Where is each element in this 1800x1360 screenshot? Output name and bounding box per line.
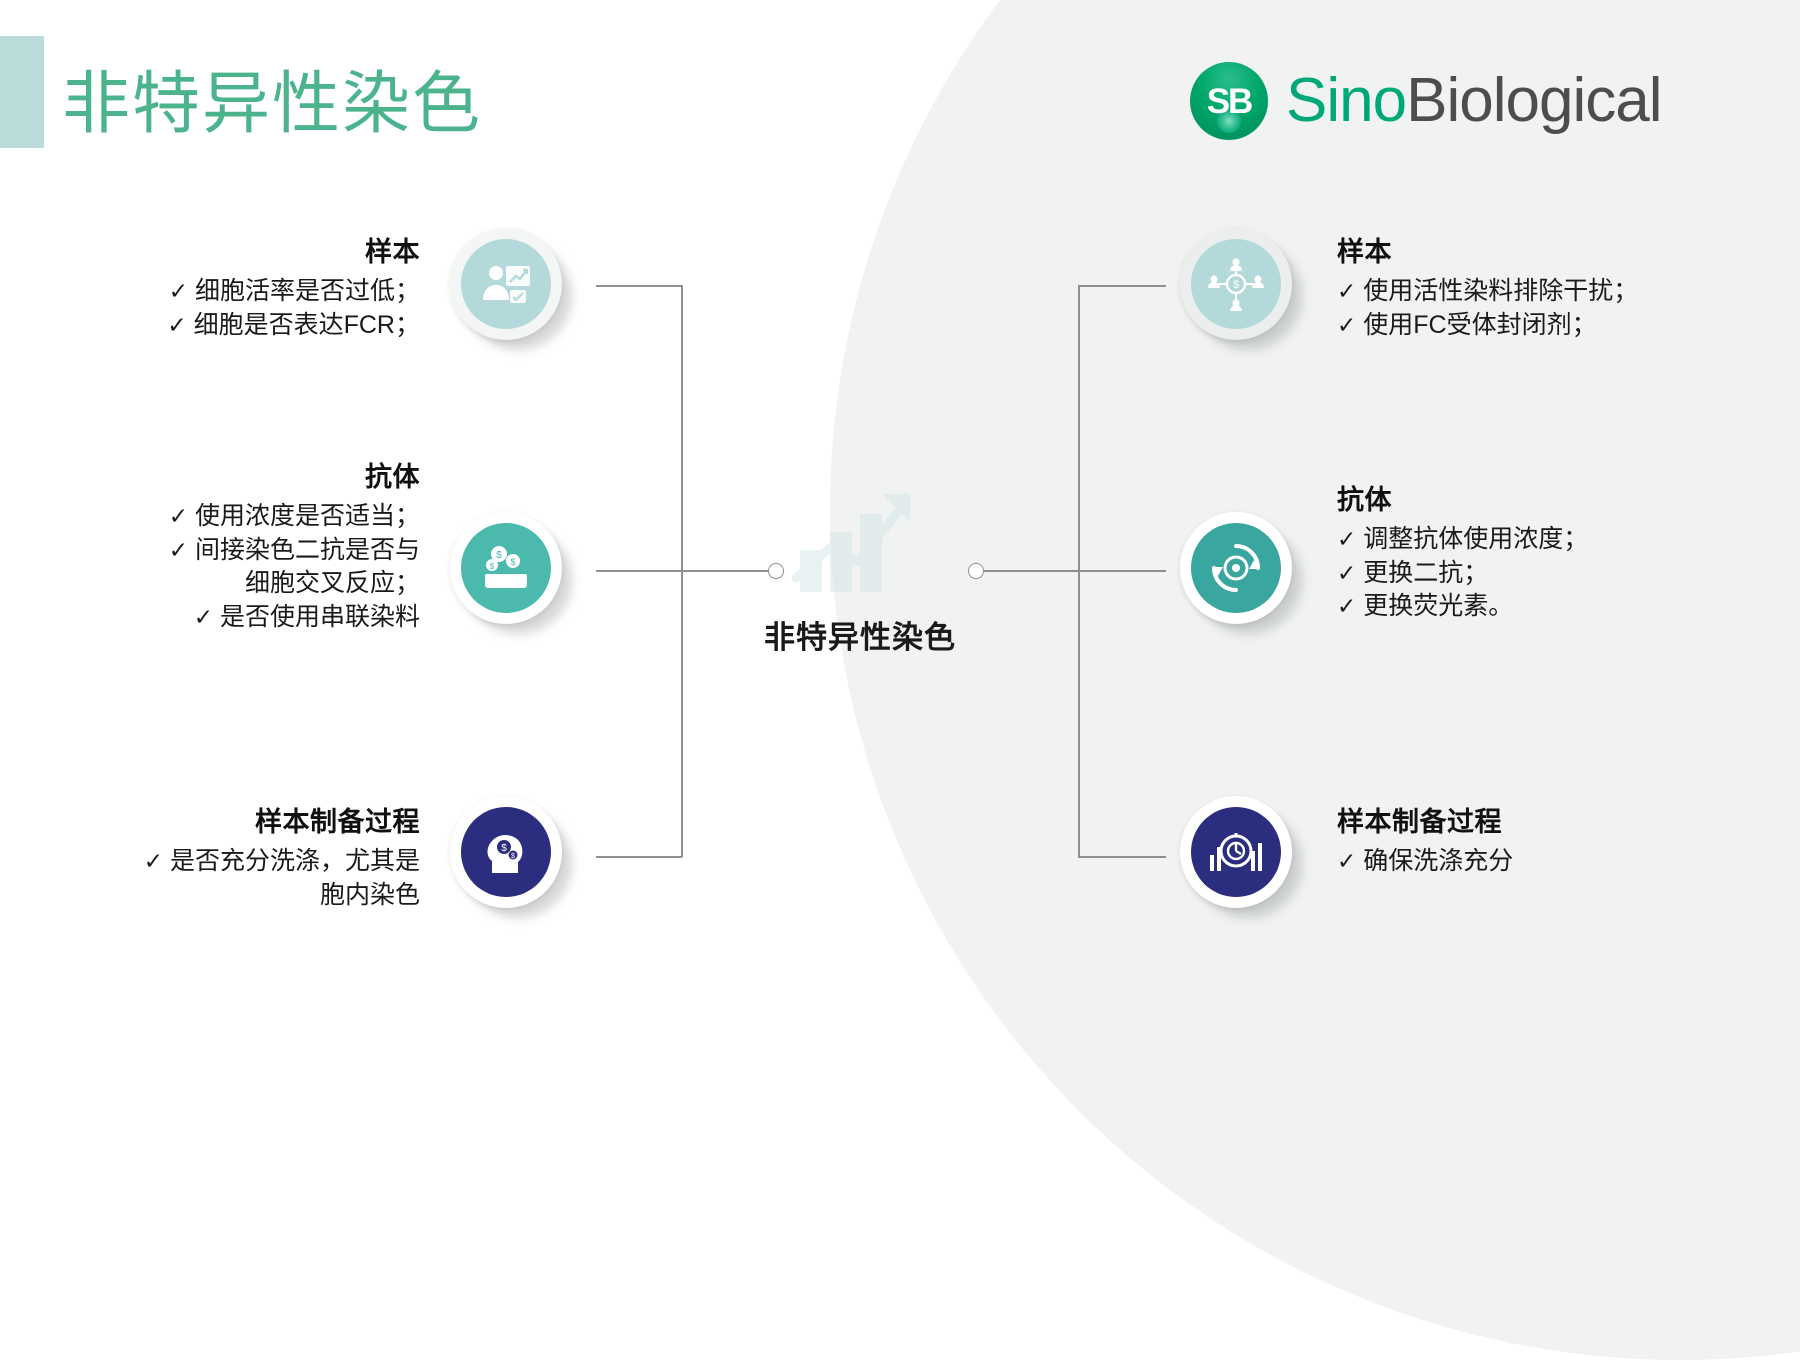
right-block-sample-heading: 样本 (1337, 230, 1757, 269)
connector-left-hub (681, 570, 769, 572)
check-icon: ✓ (194, 604, 213, 630)
connector-right-middle (1078, 570, 1166, 572)
connector-right-bottom (1078, 856, 1166, 858)
check-icon: ✓ (1337, 593, 1356, 619)
left-block-antibody: 抗体 ✓使用浓度是否适当； ✓间接染色二抗是否与 细胞交叉反应； ✓是否使用串联… (60, 455, 420, 634)
list-item: ✓间接染色二抗是否与 细胞交叉反应； (60, 534, 420, 601)
connector-left-bottom (596, 856, 682, 858)
sino-biological-logo: SB SinoBiological (1190, 62, 1661, 140)
right-block-sample: 样本 ✓使用活性染料排除干扰； ✓使用FC受体封闭剂； (1337, 230, 1757, 342)
logo-mark-text: SB (1207, 84, 1252, 119)
svg-text:$: $ (510, 557, 515, 567)
list-item-text: 是否使用串联染料 (220, 603, 420, 631)
check-icon: ✓ (167, 312, 186, 338)
left-block-preparation-heading: 样本制备过程 (40, 800, 420, 839)
right-block-antibody: 抗体 ✓调整抗体使用浓度； ✓更换二抗； ✓更换荧光素。 (1337, 478, 1757, 624)
page-title: 非特异性染色 (62, 48, 482, 147)
connector-left-top (596, 285, 682, 287)
check-icon: ✓ (1337, 560, 1356, 586)
right-icon-badge-antibody (1180, 512, 1302, 634)
list-item-text: 更换二抗； (1363, 559, 1488, 587)
left-block-sample: 样本 ✓细胞活率是否过低； ✓细胞是否表达FCR； (60, 230, 420, 342)
list-item: ✓使用FC受体封闭剂； (1337, 309, 1757, 343)
list-item: ✓调整抗体使用浓度； (1337, 523, 1757, 557)
hub-node-right (968, 563, 984, 579)
list-item-text: 调整抗体使用浓度； (1363, 525, 1588, 553)
left-icon-badge-preparation: $ $ (450, 796, 572, 918)
list-item-text: 使用活性染料排除干扰； (1363, 277, 1638, 305)
check-icon: ✓ (1337, 848, 1356, 874)
list-item: ✓确保洗涤充分 (1337, 845, 1757, 879)
connector-right-top (1078, 285, 1166, 287)
title-accent-bar (0, 36, 44, 148)
hub-node-left (768, 563, 784, 579)
list-item: ✓使用活性染料排除干扰； (1337, 275, 1757, 309)
svg-text:$: $ (511, 853, 515, 860)
network-people-icon: $ (1191, 239, 1281, 329)
check-icon: ✓ (169, 278, 188, 304)
check-icon: ✓ (1337, 526, 1356, 552)
left-block-sample-heading: 样本 (60, 230, 420, 269)
list-item: ✓是否使用串联染料 (60, 601, 420, 635)
list-item: ✓细胞活率是否过低； (60, 275, 420, 309)
right-block-preparation-heading: 样本制备过程 (1337, 800, 1757, 839)
list-item: ✓是否充分洗涤，尤其是 胞内染色 (40, 845, 420, 912)
right-block-antibody-list: ✓调整抗体使用浓度； ✓更换二抗； ✓更换荧光素。 (1337, 523, 1757, 624)
connector-left-middle (596, 570, 682, 572)
check-icon: ✓ (169, 537, 188, 563)
svg-text:$: $ (501, 843, 507, 854)
sb-monogram-icon: SB (1190, 62, 1268, 140)
right-block-preparation-list: ✓确保洗涤充分 (1337, 845, 1757, 879)
check-icon: ✓ (1337, 312, 1356, 338)
presenter-chart-icon (461, 239, 551, 329)
logo-word-sino: Sino (1286, 66, 1406, 135)
right-icon-badge-preparation (1180, 796, 1302, 918)
svg-text:$: $ (496, 550, 502, 561)
list-item-text: 使用浓度是否适当； (195, 502, 420, 530)
center-label: 非特异性染色 (700, 612, 1020, 657)
list-item-text: 更换荧光素。 (1363, 592, 1513, 620)
right-icon-badge-sample: $ (1180, 228, 1302, 350)
list-item-text: 细胞活率是否过低； (195, 277, 420, 305)
left-icon-badge-antibody: $ $ $ (450, 512, 572, 634)
right-block-antibody-heading: 抗体 (1337, 478, 1757, 517)
money-stack-icon: $ $ $ (461, 523, 551, 613)
list-item: ✓细胞是否表达FCR； (60, 309, 420, 343)
check-icon: ✓ (144, 848, 163, 874)
list-item-text: 细胞是否表达FCR； (194, 311, 420, 339)
left-block-sample-list: ✓细胞活率是否过低； ✓细胞是否表达FCR； (60, 275, 420, 342)
logo-wordmark: SinoBiological (1286, 70, 1661, 132)
svg-text:$: $ (490, 562, 495, 571)
left-block-preparation: 样本制备过程 ✓是否充分洗涤，尤其是 胞内染色 (40, 800, 420, 912)
list-item-text: 间接染色二抗是否与 细胞交叉反应； (195, 536, 420, 598)
head-idea-icon: $ $ (461, 807, 551, 897)
list-item-text: 是否充分洗涤，尤其是 胞内染色 (170, 847, 420, 909)
left-block-preparation-list: ✓是否充分洗涤，尤其是 胞内染色 (40, 845, 420, 912)
connector-right-hub (984, 570, 1078, 572)
list-item: ✓更换二抗； (1337, 557, 1757, 591)
right-block-preparation: 样本制备过程 ✓确保洗涤充分 (1337, 800, 1757, 879)
target-cycle-icon (1191, 523, 1281, 613)
right-block-sample-list: ✓使用活性染料排除干扰； ✓使用FC受体封闭剂； (1337, 275, 1757, 342)
list-item: ✓更换荧光素。 (1337, 590, 1757, 624)
list-item-text: 使用FC受体封闭剂； (1363, 311, 1596, 339)
list-item-text: 确保洗涤充分 (1363, 847, 1513, 875)
bar-chart-growth-icon (792, 480, 922, 598)
logo-word-biological: Biological (1406, 66, 1661, 135)
check-icon: ✓ (169, 503, 188, 529)
left-block-antibody-heading: 抗体 (60, 455, 420, 494)
left-block-antibody-list: ✓使用浓度是否适当； ✓间接染色二抗是否与 细胞交叉反应； ✓是否使用串联染料 (60, 500, 420, 634)
check-icon: ✓ (1337, 278, 1356, 304)
left-icon-badge-sample (450, 228, 572, 350)
svg-text:$: $ (1233, 279, 1239, 291)
list-item: ✓使用浓度是否适当； (60, 500, 420, 534)
analytics-clock-icon (1191, 807, 1281, 897)
